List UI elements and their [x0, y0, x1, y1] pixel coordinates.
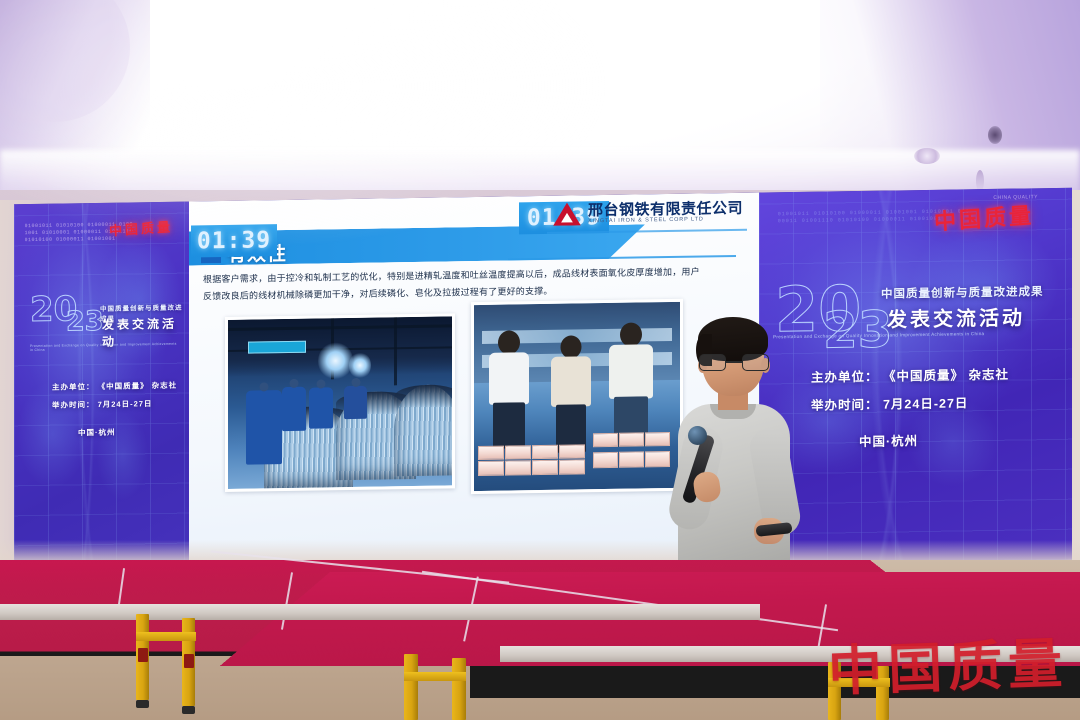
- microphone-head-icon: [688, 426, 707, 445]
- slide-photo-inspection: [471, 299, 683, 494]
- ceiling-speaker-icon: [988, 126, 1002, 144]
- stage-leg-foot: [182, 706, 195, 714]
- poster-location: 中国·杭州: [78, 427, 116, 439]
- china-quality-seal-subtext: CHINA QUALITY: [993, 194, 1038, 201]
- stage-leg-label: [184, 654, 194, 668]
- scene-root: 01001011 01010100 01000011 01001001 0101…: [0, 0, 1080, 720]
- poster-heading-cn2-right: 发表交流活动: [887, 301, 1025, 332]
- factory-sign-icon: [248, 341, 306, 354]
- company-logo: 邢台钢铁有限责任公司 XINGTAI IRON & STEEL CORP LTD: [552, 199, 743, 228]
- company-name-en: XINGTAI IRON & STEEL CORP LTD: [588, 217, 743, 225]
- timer-display-left: 01:39: [191, 224, 277, 257]
- ceiling: [0, 0, 1080, 215]
- stage-cross-brace: [404, 672, 466, 681]
- inspection-scene: [474, 302, 680, 491]
- triangle-mountain-icon: [552, 201, 582, 227]
- poster-panel-left: 01001011 01010100 01000011 01001001 0101…: [14, 202, 189, 577]
- poster-info-organizer: 主办单位： 《中国质量》 杂志社: [52, 380, 177, 393]
- led-video-wall: 01001011 01010100 01000011 01001001 0101…: [14, 188, 1072, 577]
- poster-panel-right: 01001011 01010100 01000011 01001001 0101…: [759, 188, 1072, 565]
- watermark-china-quality: 中国质量: [827, 619, 1070, 706]
- year-2023-right-right: 23: [823, 309, 893, 353]
- slide-photo-factory: [225, 313, 455, 492]
- stage-leg-label: [138, 648, 148, 662]
- stage-front-edge-left: [0, 604, 760, 620]
- stage-leg: [404, 654, 418, 720]
- poster-info-organizer-right: 主办单位： 《中国质量》 杂志社: [811, 364, 1009, 386]
- poster-info-date-right: 举办时间： 7月24日-27日: [811, 392, 968, 413]
- poster-location-right: 中国·杭州: [859, 430, 918, 450]
- year-2023-right: 23: [66, 311, 104, 335]
- stage-leg: [452, 658, 466, 720]
- stage-leg-foot: [136, 700, 149, 708]
- poster-info-date: 举办时间： 7月24日-27日: [52, 398, 152, 411]
- factory-scene: [228, 316, 452, 489]
- glasses-icon: [698, 354, 770, 371]
- stage-cross-brace: [136, 632, 196, 641]
- china-quality-seal-right: 中国质量: [933, 198, 1035, 237]
- poster-heading-cn-right: 中国质量创新与质量改进成果: [881, 283, 1044, 302]
- ceiling-downlight-icon: [914, 148, 940, 164]
